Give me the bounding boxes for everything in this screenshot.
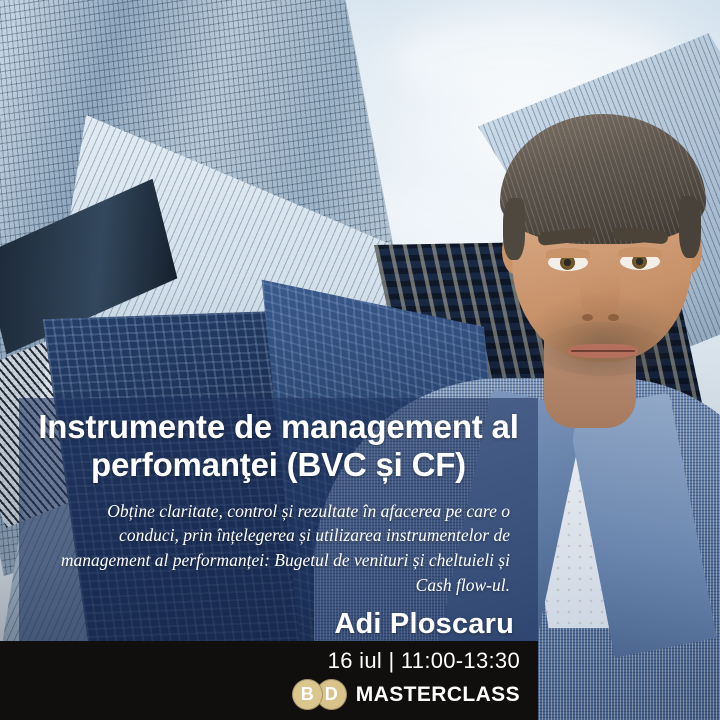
- eyelid-left: [546, 248, 590, 258]
- event-title: Instrumente de management al perfomanţei…: [35, 408, 522, 485]
- event-description: Obține claritate, control și rezultate î…: [47, 499, 510, 598]
- sideburn-left: [503, 198, 525, 260]
- mouth: [568, 344, 638, 358]
- nostril-right: [608, 314, 619, 321]
- nostril-left: [582, 314, 593, 321]
- brand-wordmark: MASTERCLASS: [356, 683, 520, 707]
- sideburn-right: [679, 196, 701, 258]
- logo-badge-b: B: [292, 679, 323, 710]
- masterclass-poster: Instrumente de management al perfomanţei…: [0, 0, 720, 720]
- eyelid-right: [618, 247, 662, 257]
- hair: [500, 114, 706, 244]
- speaker-name: Adi Ploscaru: [35, 608, 514, 641]
- brand-logo: B D MASTERCLASS: [292, 679, 520, 710]
- text-overlay-panel: Instrumente de management al perfomanţei…: [19, 398, 538, 641]
- footer-bar: 16 iul | 11:00-13:30 B D MASTERCLASS: [0, 641, 538, 720]
- event-datetime: 16 iul | 11:00-13:30: [328, 648, 520, 674]
